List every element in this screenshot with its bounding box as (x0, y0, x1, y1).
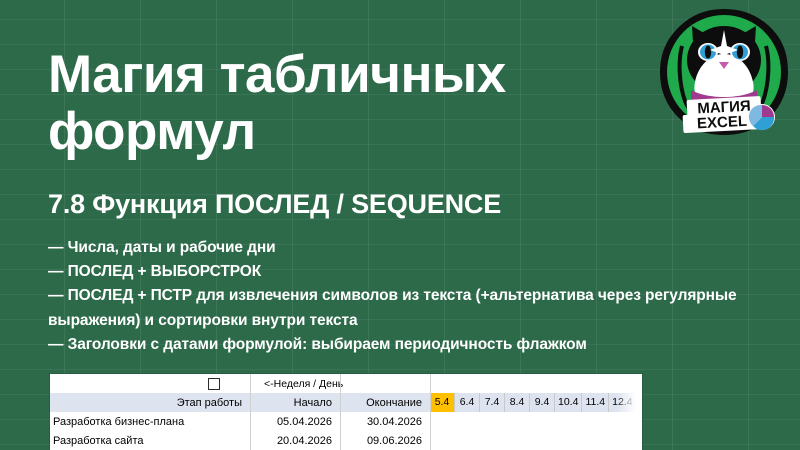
date-header-cell[interactable]: 7.4 (480, 393, 505, 412)
date-header-cell[interactable]: 13.4 (637, 393, 642, 412)
topic-list-item-4: — Заголовки с датами формулой: выбираем … (48, 333, 783, 357)
date-header-cell[interactable]: 10.4 (555, 393, 582, 412)
date-header-cells: 5.46.47.48.49.410.411.412.413.4 (430, 393, 642, 412)
cell-task[interactable]: Разработка бизнес-плана (50, 416, 250, 428)
column-divider-2 (340, 374, 341, 450)
column-header-start: Начало (250, 397, 340, 409)
table-row[interactable]: Разработка сайта20.04.202609.06.2026 (50, 431, 642, 450)
date-header-cell[interactable]: 12.4 (609, 393, 636, 412)
spreadsheet-snippet[interactable]: <-Неделя / День Этап работы Начало Оконч… (50, 374, 642, 450)
column-header-end: Окончание (340, 397, 430, 409)
spreadsheet-inner: <-Неделя / День Этап работы Начало Оконч… (50, 374, 642, 450)
spreadsheet-header-row: Этап работы Начало Окончание 5.46.47.48.… (50, 393, 642, 412)
topic-list-item-1: — Числа, даты и рабочие дни (48, 236, 783, 260)
topic-list-item-2: — ПОСЛЕД + ВЫБОРСТРОК (48, 260, 783, 284)
column-divider-3 (430, 374, 431, 450)
cell-task[interactable]: Разработка сайта (50, 435, 250, 447)
checkbox-cell[interactable] (50, 378, 250, 390)
cell-end-date[interactable]: 30.04.2026 (340, 416, 430, 428)
cat-pupil-left-icon (705, 46, 711, 59)
week-day-checkbox[interactable] (208, 378, 220, 390)
date-header-cell[interactable]: 11.4 (582, 393, 609, 412)
date-header-cell[interactable]: 8.4 (505, 393, 530, 412)
date-header-cell[interactable]: 9.4 (530, 393, 555, 412)
topic-list: — Числа, даты и рабочие дни — ПОСЛЕД + В… (48, 236, 783, 357)
cell-start-date[interactable]: 20.04.2026 (250, 435, 340, 447)
topic-list-item-3: — ПОСЛЕД + ПСТР для извлечения символов … (48, 284, 783, 332)
cell-end-date[interactable]: 09.06.2026 (340, 435, 430, 447)
column-header-task: Этап работы (50, 397, 250, 409)
cell-start-date[interactable]: 05.04.2026 (250, 416, 340, 428)
spreadsheet-data-rows: Разработка бизнес-плана05.04.202630.04.2… (50, 412, 642, 450)
magia-excel-logo: МАГИЯ EXCEL (658, 6, 790, 138)
spreadsheet-control-row: <-Неделя / День (50, 374, 642, 393)
date-header-cell[interactable]: 5.4 (430, 393, 455, 412)
logo-svg: МАГИЯ EXCEL (658, 6, 790, 138)
table-row[interactable]: Разработка бизнес-плана05.04.202630.04.2… (50, 412, 642, 431)
slide-canvas: МАГИЯ EXCEL Магия табличных формул 7.8 Ф… (0, 0, 800, 450)
logo-text-line2: EXCEL (697, 113, 748, 133)
page-title: Магия табличных формул (48, 46, 648, 160)
cat-pupil-right-icon (737, 46, 743, 59)
lesson-subtitle: 7.8 Функция ПОСЛЕД / SEQUENCE (48, 189, 501, 220)
date-header-cell[interactable]: 6.4 (455, 393, 480, 412)
column-divider-1 (250, 374, 251, 450)
checkbox-note-label: <-Неделя / День (250, 378, 343, 390)
